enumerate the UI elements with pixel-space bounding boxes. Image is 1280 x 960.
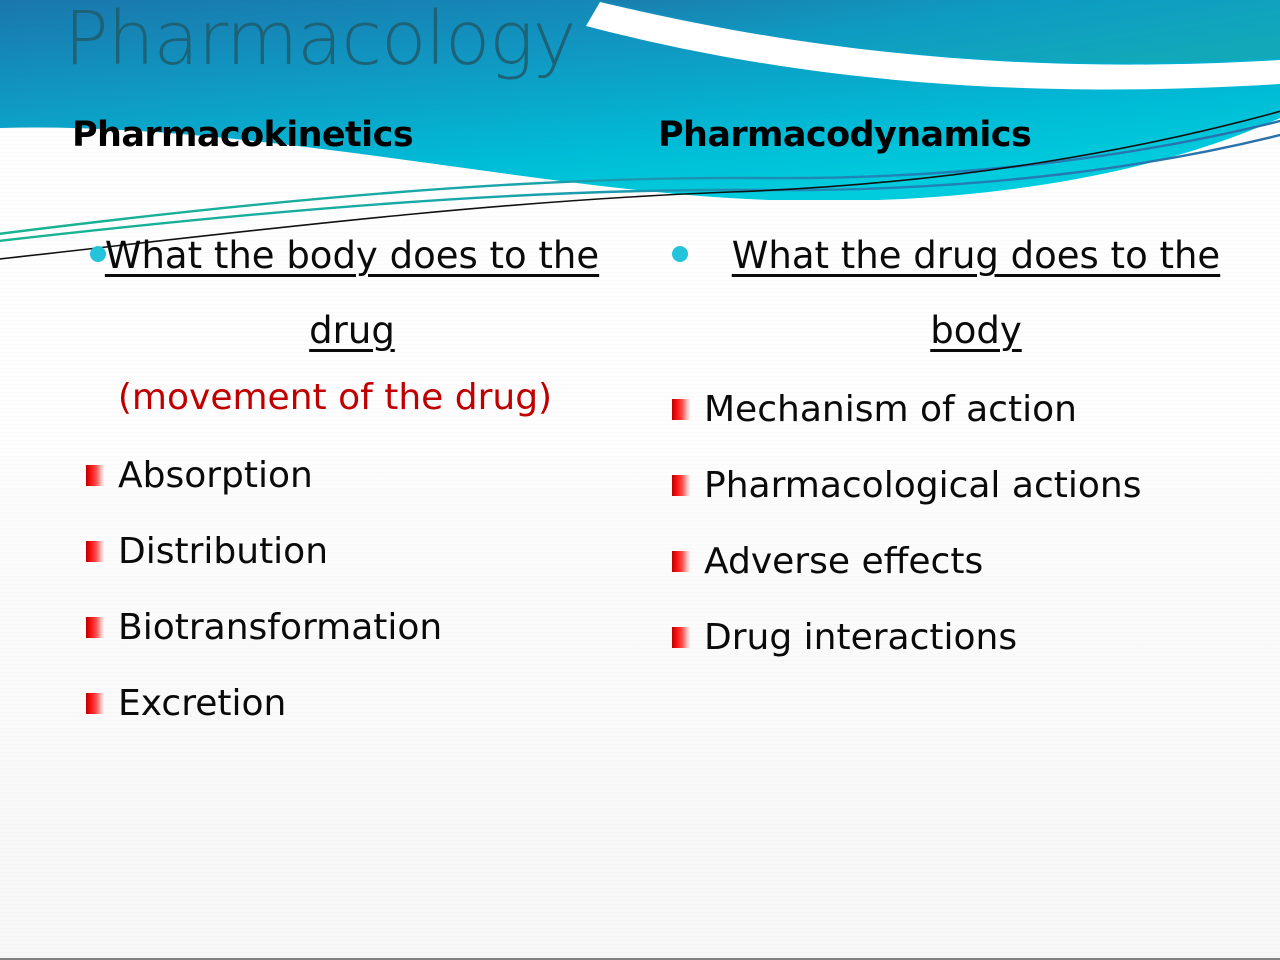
- lead-statement-pharmacokinetics: What the body does to the drug: [34, 218, 630, 368]
- column-pharmacokinetics: Pharmacokinetics What the body does to t…: [8, 114, 640, 742]
- square-bullet-icon: [672, 475, 690, 496]
- page-title: Pharmacology: [64, 2, 575, 76]
- list-item: Distribution: [80, 514, 640, 590]
- lead-row-pharmacodynamics: What the drug does to the body: [640, 218, 1272, 368]
- list-item-label: Drug interactions: [704, 617, 1017, 658]
- square-bullet-icon: [86, 617, 104, 638]
- list-item-label: Adverse effects: [704, 541, 983, 582]
- note-pharmacokinetics: (movement of the drug): [8, 374, 640, 422]
- square-bullet-icon: [672, 399, 690, 420]
- list-pharmacodynamics: Mechanism of action Pharmacological acti…: [640, 372, 1272, 676]
- square-bullet-icon: [86, 693, 104, 714]
- column-pharmacodynamics: Pharmacodynamics What the drug does to t…: [640, 114, 1272, 676]
- list-item: Drug interactions: [666, 600, 1272, 676]
- list-item-label: Pharmacological actions: [704, 465, 1141, 506]
- list-item-label: Distribution: [118, 531, 328, 572]
- list-item-label: Mechanism of action: [704, 389, 1077, 430]
- list-item: Pharmacological actions: [666, 448, 1272, 524]
- list-item-label: Biotransformation: [118, 607, 442, 648]
- list-item-label: Excretion: [118, 683, 286, 724]
- list-item: Absorption: [80, 438, 640, 514]
- round-bullet-icon: [90, 246, 106, 262]
- list-item: Mechanism of action: [666, 372, 1272, 448]
- square-bullet-icon: [672, 551, 690, 572]
- lead-statement-pharmacodynamics: What the drug does to the body: [666, 218, 1262, 368]
- list-item: Excretion: [80, 666, 640, 742]
- round-bullet-icon: [672, 246, 688, 262]
- list-item: Biotransformation: [80, 590, 640, 666]
- list-item-label: Absorption: [118, 455, 313, 496]
- square-bullet-icon: [86, 541, 104, 562]
- column-heading-pharmacokinetics: Pharmacokinetics: [8, 114, 640, 166]
- list-pharmacokinetics: Absorption Distribution Biotransformatio…: [8, 438, 640, 742]
- list-item: Adverse effects: [666, 524, 1272, 600]
- square-bullet-icon: [86, 465, 104, 486]
- square-bullet-icon: [672, 627, 690, 648]
- lead-row-pharmacokinetics: What the body does to the drug: [8, 218, 640, 368]
- column-heading-pharmacodynamics: Pharmacodynamics: [640, 114, 1272, 166]
- slide-canvas: Pharmacology Pharmacokinetics What the b…: [0, 0, 1280, 960]
